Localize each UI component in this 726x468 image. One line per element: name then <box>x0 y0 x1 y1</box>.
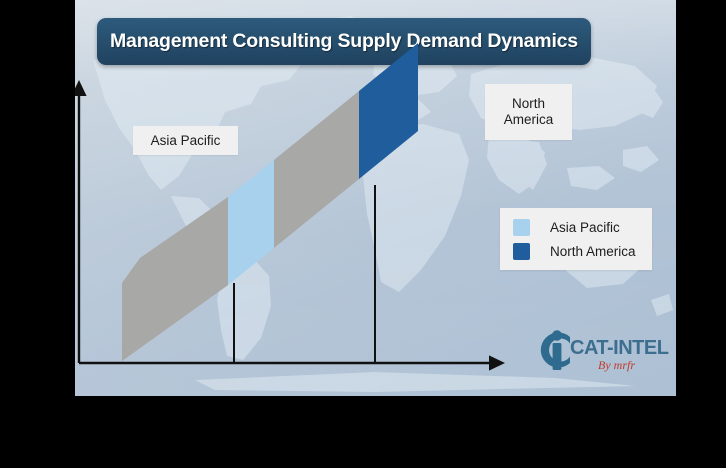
legend-label-asia-pacific: Asia Pacific <box>550 220 620 235</box>
band-segment-rest-of-world-lower <box>122 197 228 283</box>
legend-label-north-america: North America <box>550 244 636 259</box>
band-seg-2-asia-pacific <box>228 160 274 285</box>
legend-swatch-asia-pacific <box>513 219 530 236</box>
screenshot-canvas: Management Consulting Supply Demand Dyna… <box>0 0 726 468</box>
cat-intel-logo: CAT-INTEL By mrfr <box>530 326 665 378</box>
legend-item-asia-pacific[interactable]: Asia Pacific <box>500 215 652 239</box>
callout-asia-pacific: Asia Pacific <box>133 126 238 155</box>
callout-asia-pacific-label: Asia Pacific <box>151 133 221 149</box>
page-title: Management Consulting Supply Demand Dyna… <box>110 30 578 53</box>
legend-item-north-america[interactable]: North America <box>500 239 652 263</box>
cat-intel-wordmark: CAT-INTEL <box>570 337 668 360</box>
cat-intel-tagline: By mrfr <box>598 358 635 373</box>
legend-swatch-north-america <box>513 243 530 260</box>
callout-north-america: North America <box>485 84 572 140</box>
slide-panel: Management Consulting Supply Demand Dyna… <box>75 0 676 396</box>
callout-north-america-text: North America <box>504 96 554 128</box>
callout-north-america-line2: America <box>504 112 554 127</box>
x-axis-arrowhead <box>489 355 505 370</box>
band-seg-3-rest-of-world-upper <box>274 91 359 248</box>
slide-title-bar: Management Consulting Supply Demand Dyna… <box>97 18 591 65</box>
y-axis-arrowhead <box>75 80 87 96</box>
band-segment-rest-of-world-lower-body <box>122 197 228 361</box>
chart-legend: Asia Pacific North America <box>500 208 652 270</box>
band-seg-1 <box>122 197 228 361</box>
callout-north-america-line1: North <box>512 96 545 111</box>
